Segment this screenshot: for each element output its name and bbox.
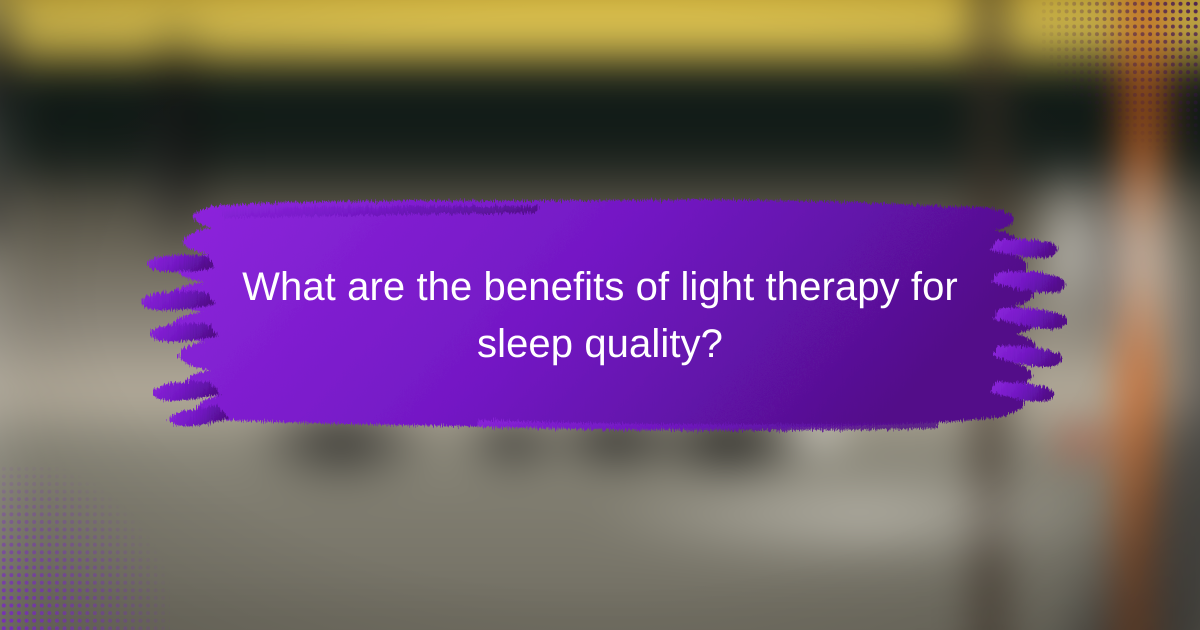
share-card-canvas: What are the benefits of light therapy f… — [0, 0, 1200, 630]
headline-line-2: sleep quality? — [477, 316, 723, 373]
card-headline: What are the benefits of light therapy f… — [118, 196, 1082, 436]
headline-line-1: What are the benefits of light therapy f… — [242, 259, 958, 316]
